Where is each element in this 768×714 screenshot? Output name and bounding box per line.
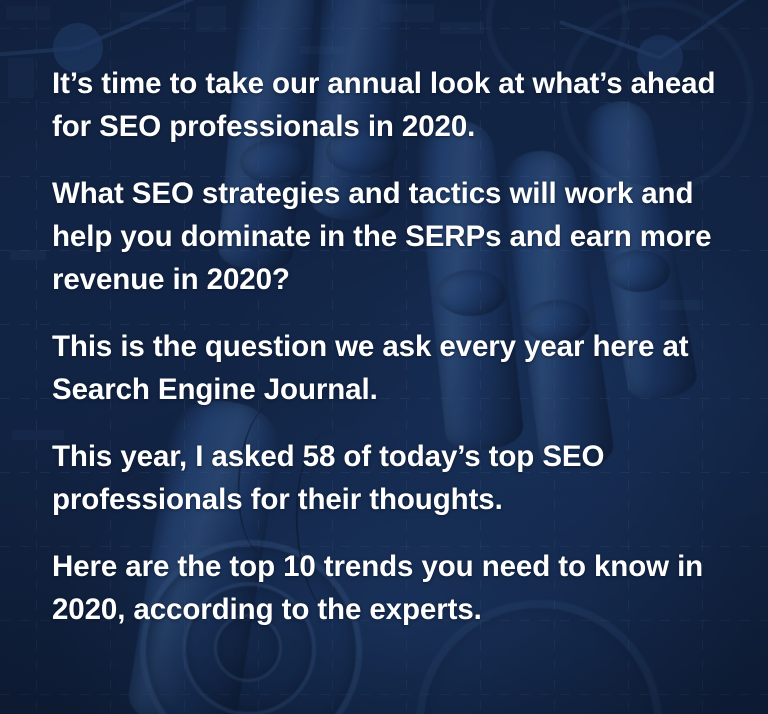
paragraph-question: What SEO strategies and tactics will wor… <box>52 172 720 301</box>
slide-canvas: It’s time to take our annual look at wha… <box>0 0 768 714</box>
paragraph-intro: It’s time to take our annual look at wha… <box>52 62 720 148</box>
paragraph-attribution: This is the question we ask every year h… <box>52 325 720 411</box>
article-body: It’s time to take our annual look at wha… <box>52 62 720 631</box>
paragraph-survey: This year, I asked 58 of today’s top SEO… <box>52 435 720 521</box>
network-edge <box>78 0 250 48</box>
paragraph-promise: Here are the top 10 trends you need to k… <box>52 545 720 631</box>
